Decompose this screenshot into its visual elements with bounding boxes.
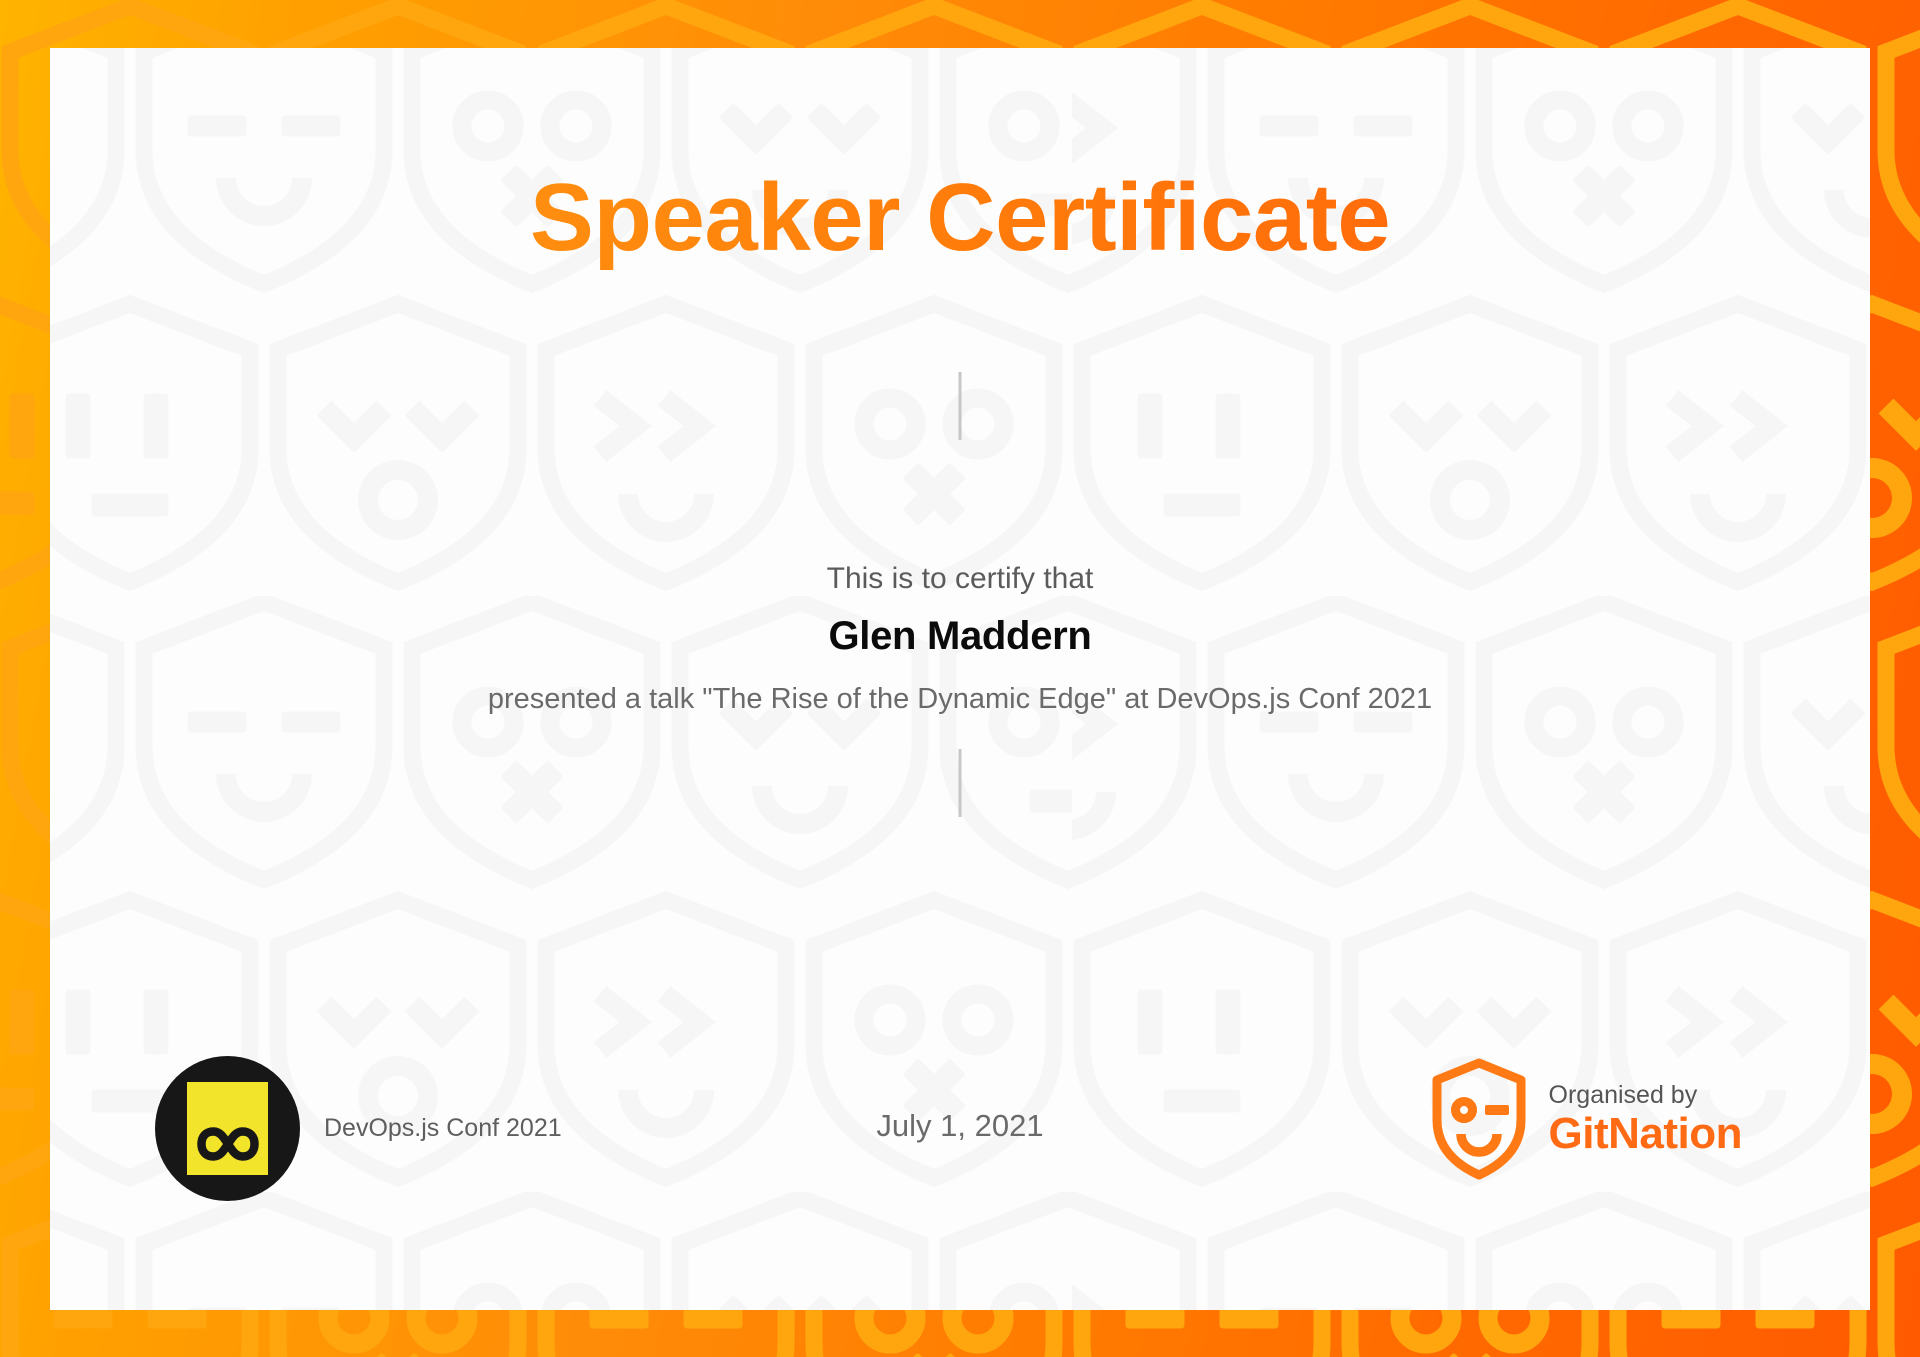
certificate-footer: DevOps.js Conf 2021 July 1, 2021 Organis… bbox=[50, 1048, 1870, 1248]
certify-line: This is to certify that bbox=[50, 562, 1870, 596]
event-brand: DevOps.js Conf 2021 bbox=[155, 1056, 562, 1201]
recipient-name: Glen Maddern bbox=[50, 614, 1870, 659]
page-title: Speaker Certificate bbox=[50, 166, 1870, 270]
devopsjs-logo bbox=[155, 1056, 300, 1201]
organiser-name: GitNation bbox=[1549, 1111, 1742, 1157]
talk-description: presented a talk "The Rise of the Dynami… bbox=[50, 683, 1870, 716]
infinity-icon bbox=[187, 1082, 268, 1175]
organiser-block: Organised by GitNation bbox=[1431, 1058, 1742, 1180]
organiser-prefix: Organised by bbox=[1549, 1081, 1742, 1110]
shield-face-icon bbox=[1431, 1058, 1527, 1180]
divider-top bbox=[959, 372, 962, 440]
certificate-card: Speaker Certificate This is to certify t… bbox=[50, 48, 1870, 1310]
divider-bottom bbox=[959, 749, 962, 817]
issue-date: July 1, 2021 bbox=[876, 1108, 1043, 1144]
event-name: DevOps.js Conf 2021 bbox=[324, 1114, 562, 1143]
certificate: Speaker Certificate This is to certify t… bbox=[0, 0, 1920, 1357]
